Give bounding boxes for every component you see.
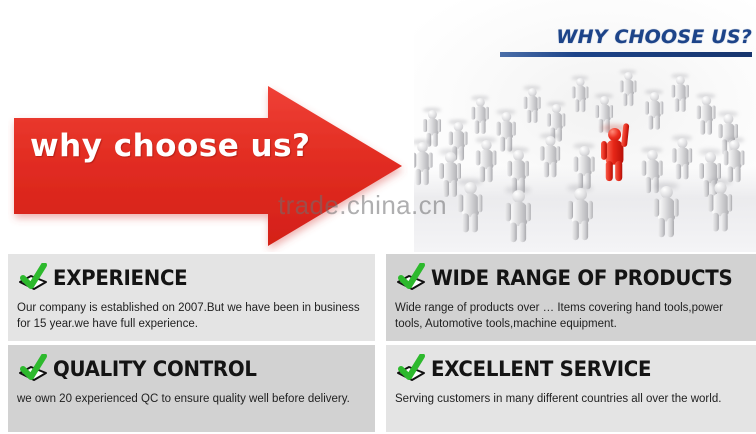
hero-section: WHY CHOOSE US? why choose us? <box>0 0 756 252</box>
feature-panel-excellent-service: EXCELLENT SERVICE Serving customers in m… <box>386 345 756 432</box>
feature-body: Our company is established on 2007.But w… <box>17 300 365 333</box>
feature-body: Wide range of products over … Items cove… <box>395 300 746 333</box>
feature-body: Serving customers in many different coun… <box>395 391 746 407</box>
green-check-icon <box>17 354 49 384</box>
feature-panel-header: EXCELLENT SERVICE <box>395 352 746 386</box>
feature-title: WIDE RANGE OF PRODUCTS <box>431 268 732 289</box>
arrow-label: why choose us? <box>30 128 311 164</box>
why-choose-us-banner: WHY CHOOSE US? why choose us? <box>0 0 756 434</box>
hero-headline-block: WHY CHOOSE US? <box>452 28 752 47</box>
green-check-icon <box>395 263 427 293</box>
feature-panel-quality-control: QUALITY CONTROL we own 20 experienced QC… <box>8 345 375 432</box>
feature-panels: EXPERIENCE Our company is established on… <box>0 252 756 434</box>
watermark: trade.china.cn <box>278 190 447 221</box>
red-arrow-graphic <box>8 78 408 252</box>
feature-title: EXPERIENCE <box>53 268 187 289</box>
feature-panel-header: WIDE RANGE OF PRODUCTS <box>395 261 746 295</box>
feature-body: we own 20 experienced QC to ensure quali… <box>17 391 365 407</box>
feature-panel-wide-range-of-products: WIDE RANGE OF PRODUCTS Wide range of pro… <box>386 254 756 341</box>
feature-title: QUALITY CONTROL <box>53 359 257 380</box>
hero-headline: WHY CHOOSE US? <box>452 28 752 47</box>
feature-panel-header: EXPERIENCE <box>17 261 365 295</box>
feature-panel-experience: EXPERIENCE Our company is established on… <box>8 254 375 341</box>
green-check-icon <box>395 354 427 384</box>
feature-panel-header: QUALITY CONTROL <box>17 352 365 386</box>
hero-headline-underline <box>500 52 752 57</box>
feature-title: EXCELLENT SERVICE <box>431 359 651 380</box>
green-check-icon <box>17 263 49 293</box>
